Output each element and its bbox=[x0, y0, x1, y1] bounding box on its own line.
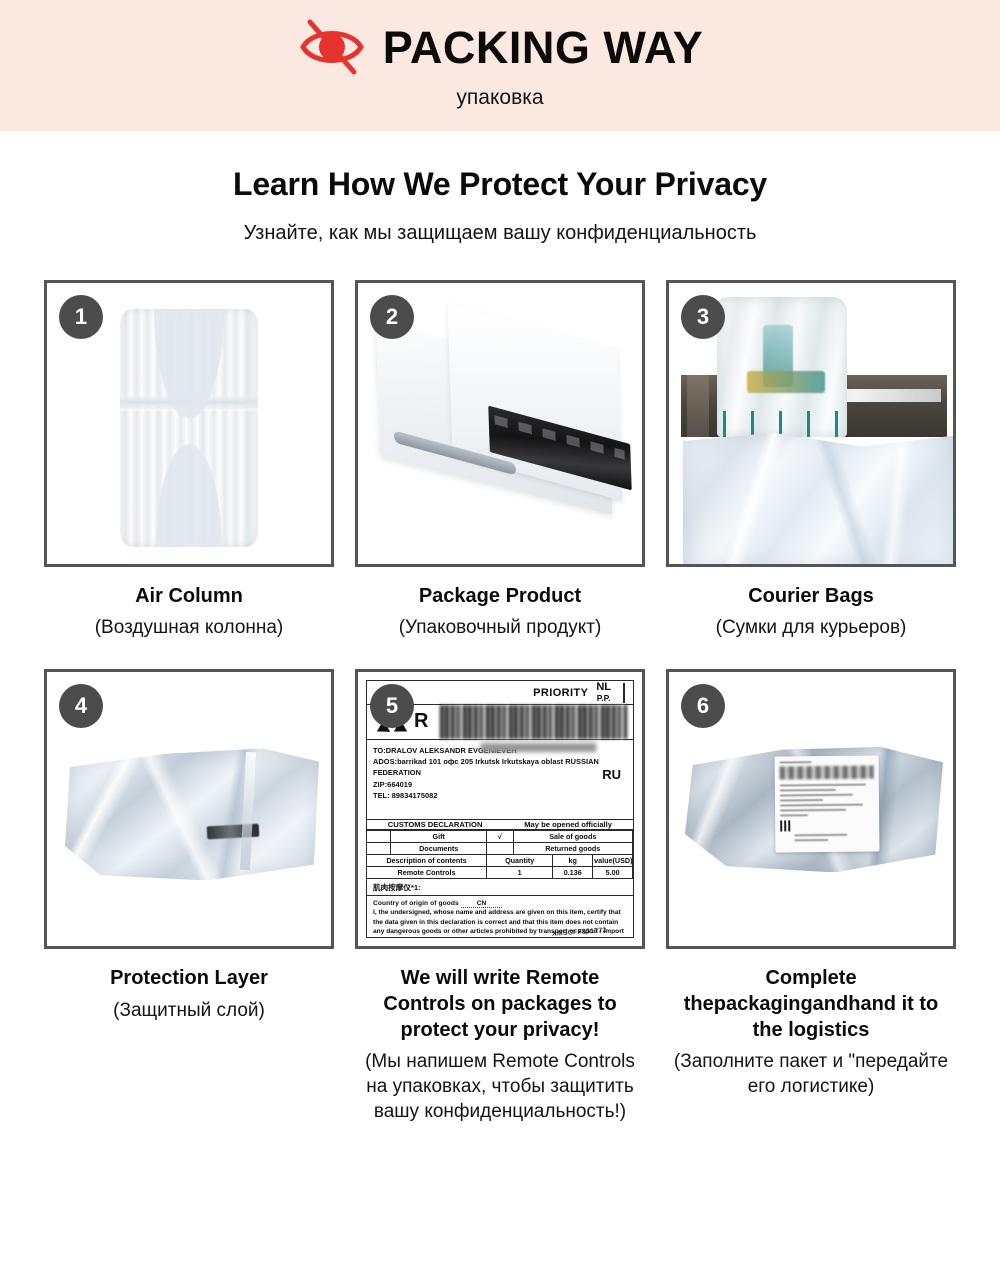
recipient-address: TO:DRALOV ALEKSANDR EVGENIEVEH ADOS:barr… bbox=[373, 745, 599, 801]
brand-header: PACKING WAY упаковка bbox=[0, 0, 1000, 131]
cell-documents-check bbox=[486, 842, 513, 854]
headline-section: Learn How We Protect Your Privacy Узнайт… bbox=[0, 131, 1000, 245]
step-badge-3: 3 bbox=[681, 295, 725, 339]
cell-documents: Documents bbox=[391, 842, 487, 854]
col-kg: kg bbox=[553, 854, 593, 866]
brand-row: PACKING WAY bbox=[297, 16, 704, 78]
step-cell-1: 1 Air Column (Воздушная колонна) bbox=[44, 280, 334, 641]
origin-value: CN bbox=[461, 900, 503, 908]
origin-label: Country of origin of goods bbox=[373, 900, 459, 907]
cell-sale-of-goods: Sale of goods bbox=[513, 830, 632, 842]
step-badge-2: 2 bbox=[370, 295, 414, 339]
recycle-letter: R bbox=[414, 710, 428, 733]
step-caption-ru-4: (Защитный слой) bbox=[48, 998, 330, 1023]
step-card-3: 3 bbox=[666, 280, 956, 567]
eye-off-icon bbox=[297, 18, 367, 76]
table-row: Gift √ Sale of goods bbox=[367, 830, 633, 842]
cell-gift: Gift bbox=[391, 830, 487, 842]
recipient-line: TEL: 89834175082 bbox=[373, 790, 599, 801]
step-caption-3: Courier Bags (Сумки для курьеров) bbox=[666, 567, 956, 641]
label-priority-text: PRIORITY bbox=[533, 687, 588, 699]
step-cell-2: 2 Package Product (Упаковочный продукт) bbox=[355, 280, 645, 641]
step-card-6: 6 bbox=[666, 669, 956, 949]
step-caption-en-4: Protection Layer bbox=[48, 966, 330, 992]
cell-gift-check: √ bbox=[486, 830, 513, 842]
step-cell-3: 3 Courier Bags (Сумки для курьеров) bbox=[666, 280, 956, 641]
step-caption-en-3: Courier Bags bbox=[670, 584, 952, 610]
cell-returned-goods: Returned goods bbox=[513, 842, 632, 854]
step-caption-ru-5: (Мы напишем Remote Controls на упаковках… bbox=[359, 1049, 641, 1124]
recipient-line: ZIP:664019 bbox=[373, 779, 599, 790]
step-card-4: 4 bbox=[44, 669, 334, 949]
customs-declaration-header: CUSTOMS DECLARATION May be opened offici… bbox=[367, 820, 633, 830]
step-caption-ru-3: (Сумки для курьеров) bbox=[670, 615, 952, 640]
step-cell-5: 5 PRIORITY NL P.P. R bbox=[355, 669, 645, 1124]
page-title-en: Learn How We Protect Your Privacy bbox=[0, 166, 1000, 203]
recipient-line: ADOS:barrikad 101 офс 205 Irkutsk Irkuts… bbox=[373, 756, 599, 767]
step-caption-en-5: We will write Remote Controls on package… bbox=[359, 966, 641, 1043]
cjk-item-note: 肌肉按摩仪*1: bbox=[367, 879, 633, 896]
label-divider-bar bbox=[623, 683, 625, 703]
step-card-1: 1 bbox=[44, 280, 334, 567]
step-cell-4: 4 Protection Layer (Защитный слой) bbox=[44, 669, 334, 1124]
step-cell-6: 6 bbox=[666, 669, 956, 1124]
col-description: Description of contents bbox=[367, 854, 486, 866]
step-card-2: 2 bbox=[355, 280, 645, 567]
destination-country-code: RU bbox=[602, 745, 627, 782]
step-caption-5: We will write Remote Controls on package… bbox=[355, 949, 645, 1124]
label-postage-paid: P.P. bbox=[596, 694, 611, 704]
table-row: Documents Returned goods bbox=[367, 842, 633, 854]
table-row: Remote Controls 1 0.136 5.00 bbox=[367, 866, 633, 878]
barcode-image bbox=[440, 705, 627, 739]
table-row: Description of contents Quantity kg valu… bbox=[367, 854, 633, 866]
may-be-opened-text: May be opened officially bbox=[503, 820, 633, 829]
step-badge-1: 1 bbox=[59, 295, 103, 339]
customs-table: Gift √ Sale of goods Documents Returned … bbox=[367, 830, 633, 879]
step-caption-en-1: Air Column bbox=[48, 584, 330, 610]
recipient-line: FEDERATION bbox=[373, 767, 599, 778]
step-caption-ru-1: (Воздушная колонна) bbox=[48, 615, 330, 640]
page-title-ru: Узнайте, как мы защищаем вашу конфиденци… bbox=[0, 221, 1000, 245]
item-value: 5.00 bbox=[593, 866, 633, 878]
label-address-block: TO:DRALOV ALEKSANDR EVGENIEVEH ADOS:barr… bbox=[367, 740, 633, 820]
step-caption-4: Protection Layer (Защитный слой) bbox=[44, 949, 334, 1023]
col-quantity: Quantity bbox=[486, 854, 552, 866]
step-caption-6: Complete thepackagingandhand it to the l… bbox=[666, 949, 956, 1099]
item-description: Remote Controls bbox=[367, 866, 486, 878]
col-value: value(USD) bbox=[593, 854, 633, 866]
label-country-block: NL P.P. bbox=[596, 681, 611, 703]
origin-row: Country of origin of goods CN bbox=[373, 899, 627, 908]
brand-subtitle: упаковка bbox=[456, 87, 543, 108]
item-quantity: 1 bbox=[486, 866, 552, 878]
step-caption-2: Package Product (Упаковочный продукт) bbox=[355, 567, 645, 641]
declaration-block: Country of origin of goods CN I, the und… bbox=[367, 896, 633, 939]
parcel-label bbox=[775, 756, 880, 853]
brand-title: PACKING WAY bbox=[383, 25, 704, 70]
step-caption-en-6: Complete thepackagingandhand it to the l… bbox=[670, 966, 952, 1043]
cell-empty bbox=[367, 830, 391, 842]
cell-empty bbox=[367, 842, 391, 854]
step-caption-ru-6: (Заполните пакет и "передайте его логист… bbox=[670, 1049, 952, 1099]
step-caption-1: Air Column (Воздушная колонна) bbox=[44, 567, 334, 641]
item-kg: 0.136 bbox=[553, 866, 593, 878]
customs-declaration-title: CUSTOMS DECLARATION bbox=[367, 820, 503, 829]
steps-grid: 1 Air Column (Воздушная колонна) 2 Packa… bbox=[0, 280, 1000, 1125]
step-card-5: 5 PRIORITY NL P.P. R bbox=[355, 669, 645, 949]
step-caption-en-2: Package Product bbox=[359, 584, 641, 610]
step-caption-ru-2: (Упаковочный продукт) bbox=[359, 615, 641, 640]
